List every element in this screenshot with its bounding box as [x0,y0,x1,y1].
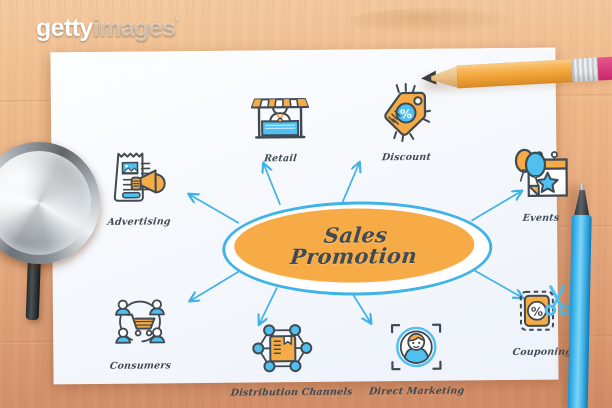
svg-text:%: % [400,107,412,121]
node-label: Consumers [88,360,193,372]
node-label: Retail [228,153,333,165]
svg-text:%: % [531,305,543,319]
node-label: Discount [354,152,459,164]
node-label: Advertising [86,216,191,228]
node-label: Distribution Channels [230,387,335,399]
market-stall-icon [246,80,315,149]
pencil-body [456,59,573,88]
screenshot-canvas: Sales Promotion [0,0,612,408]
network-package-icon [248,314,317,383]
watermark-part1: getty [36,14,93,42]
node-consumers[interactable]: Consumers [88,287,193,372]
node-retail[interactable]: Retail [228,80,333,165]
node-direct-marketing[interactable]: Direct Marketing [364,312,469,397]
getty-images-watermark: gettyimages’ [36,14,178,43]
node-advertising[interactable]: Advertising [86,143,191,228]
center-title: Sales Promotion [289,224,420,267]
watermark-trademark: ’ [175,15,178,30]
balloons-calendar-icon [506,139,575,208]
magnifying-glass [0,142,100,264]
infographic-paper: Sales Promotion [50,48,558,385]
center-title-line2: Promotion [289,245,418,267]
node-label: Direct Marketing [364,385,469,397]
pencil-ferrule [571,58,599,82]
pen-body [568,215,592,408]
watermark-part2: images [93,14,176,42]
wood-knot [350,8,520,34]
target-person-icon [382,313,451,382]
people-shopping-cart-icon [106,287,175,356]
pencil-sharpened-wood [430,65,459,90]
node-distribution-channels[interactable]: Distribution Channels [230,314,335,399]
megaphone-document-icon [104,143,173,212]
pencil-eraser [597,57,612,81]
